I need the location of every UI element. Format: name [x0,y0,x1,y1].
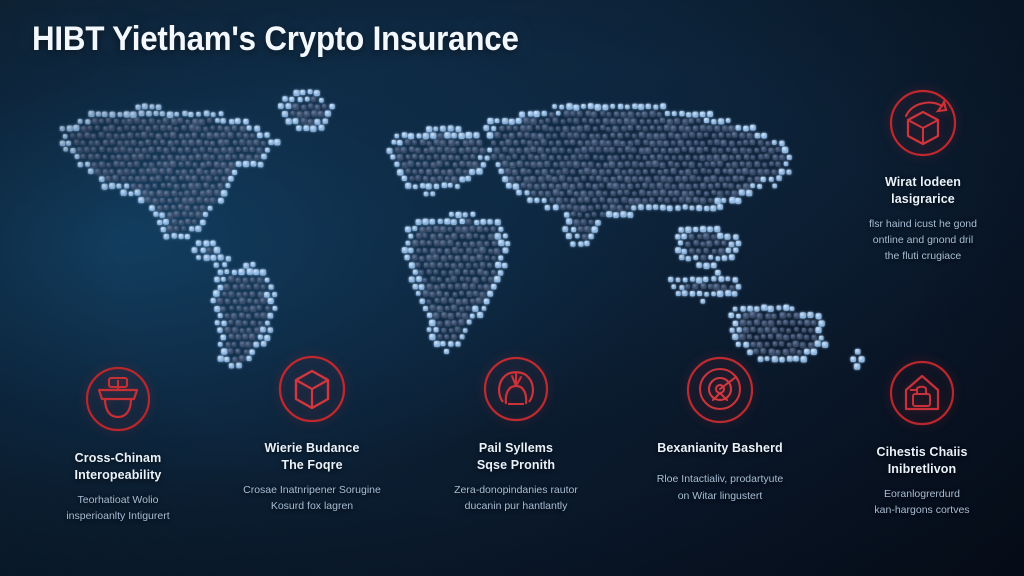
feature-4-title-line2: Inibretlivon [888,462,957,476]
feature-0-desc-line2: insperioanlty Intigurert [66,510,169,522]
feature-0-desc: Teorhatioat Wolio insperioanlty Intigure… [24,492,212,525]
feature-3-title: Bexanianity Basherd [626,440,814,457]
highlight-title-line1: Wirat lodeen [885,175,961,189]
highlight-desc-line3: the fluti crugiace [885,250,961,262]
feature-4-title-line1: Cihestis Chaiis [876,445,967,459]
feature-2-desc: Zera-donopindanies rautor ducanin pur ha… [422,482,610,515]
feature-3-desc-line1: Rloe Intactialiv, prodartyute [657,473,783,485]
feature-item-0: Cross-Chinam Interopeability Teorhatioat… [24,362,212,524]
feature-4-desc-line1: Eoranlogrerdurd [884,488,960,500]
highlight-title: Wirat lodeen lasigrarice [830,174,1016,209]
feature-1-title-line1: Wierie Budance [264,441,359,455]
feature-2-title: Pail Syllems Sqse Pronith [422,440,610,475]
feature-item-4: Cihestis Chaiis Inibretlivon Eoranlogrer… [828,356,1016,518]
bell-shield-icon [81,362,155,436]
world-map [40,72,920,382]
feature-1-desc-line2: Kosurd fox lagren [271,500,353,512]
feature-item-3: Bexanianity Basherd Rloe Intactialiv, pr… [626,352,814,504]
feature-2-desc-line1: Zera-donopindanies rautor [454,484,578,496]
feature-1-title-line2: The Foqre [281,458,342,472]
world-map-dots [40,72,920,382]
feature-1-desc-line1: Crosae Inatnripener Sorugine [243,484,381,496]
hands-shield-icon [479,352,553,426]
feature-0-title-line2: Interopeability [75,468,162,482]
home-lock-icon [885,356,959,430]
infographic-canvas: HIBT Yietham's Crypto Insurance Wirat lo… [0,0,1024,576]
feature-1-title: Wierie Budance The Foqre [218,440,406,475]
feature-item-2: Pail Syllems Sqse Pronith Zera-donopinda… [422,352,610,514]
highlight-desc: flsr haind icust he gond ontline and gno… [830,216,1016,265]
highlight-block: Wirat lodeen lasigrarice flsr haind icus… [830,86,1016,264]
page-title: HIBT Yietham's Crypto Insurance [32,20,519,59]
feature-2-desc-line2: ducanin pur hantlantly [465,500,568,512]
feature-2-title-line1: Pail Syllems [479,441,553,455]
feature-item-1: Wierie Budance The Foqre Crosae Inatnrip… [218,352,406,514]
radar-target-icon [683,352,757,426]
highlight-title-line2: lasigrarice [891,192,955,206]
feature-4-title: Cihestis Chaiis Inibretlivon [828,444,1016,479]
cube-hand-icon [886,86,960,160]
feature-3-title-line1: Bexanianity Basherd [657,441,783,455]
highlight-desc-line1: flsr haind icust he gond [869,218,977,230]
hex-cube-icon [275,352,349,426]
highlight-desc-line2: ontline and gnond dril [873,234,973,246]
feature-4-desc-line2: kan-hargons cortves [874,504,969,516]
feature-3-desc: Rloe Intactialiv, prodartyute on Witar l… [626,471,814,504]
feature-1-desc: Crosae Inatnripener Sorugine Kosurd fox … [218,482,406,515]
feature-0-title-line1: Cross-Chinam [75,451,162,465]
feature-2-title-line2: Sqse Pronith [477,458,555,472]
feature-0-title: Cross-Chinam Interopeability [24,450,212,485]
feature-3-desc-line2: on Witar lingustert [678,490,763,502]
feature-4-desc: Eoranlogrerdurd kan-hargons cortves [828,486,1016,519]
feature-0-desc-line1: Teorhatioat Wolio [78,494,159,506]
